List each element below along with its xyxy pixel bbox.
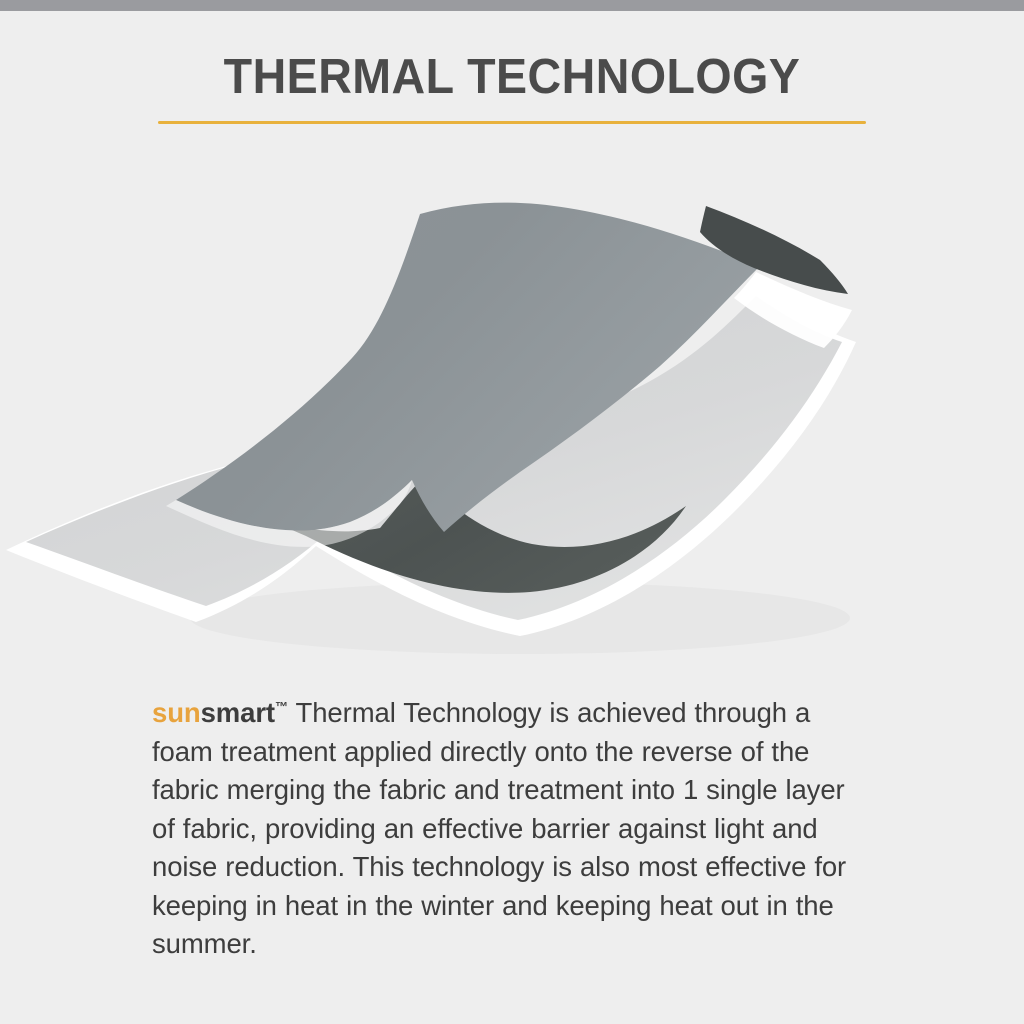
trademark-symbol: ™ [275,699,288,714]
page-title: THERMAL TECHNOLOGY [26,49,999,105]
title-divider-rule [158,121,866,124]
body-copy: sunsmart™ Thermal Technology is achieved… [152,688,864,964]
fabric-illustration-svg [0,150,1024,670]
page-root: THERMAL TECHNOLOGY [0,0,1024,1024]
body-paragraph-text: Thermal Technology is achieved through a… [152,697,846,959]
thermal-fabric-layers-illustration [0,150,1024,670]
brand-smart-text: smart [201,697,275,728]
brand-sun-text: sun [152,697,201,728]
top-accent-bar [0,0,1024,11]
page-header: THERMAL TECHNOLOGY [0,11,1024,131]
